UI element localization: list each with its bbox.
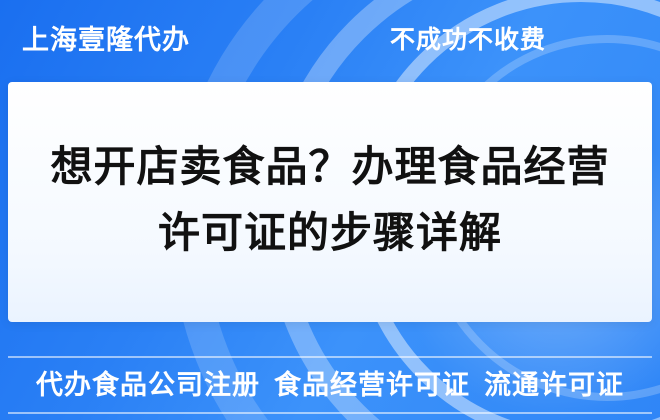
promo-banner: 上海壹隆代办 不成功不收费 想开店卖食品？办理食品经营 许可证的步骤详解 代办食… xyxy=(0,0,660,420)
banner-header: 上海壹隆代办 不成功不收费 xyxy=(0,0,660,78)
page-title: 想开店卖食品？办理食品经营 许可证的步骤详解 xyxy=(8,134,652,267)
slogan-text: 不成功不收费 xyxy=(390,20,546,56)
keyword-strip-divider-bottom xyxy=(8,412,652,414)
brand-name: 上海壹隆代办 xyxy=(22,18,190,57)
page-title-line-2: 许可证的步骤详解 xyxy=(8,200,652,266)
headline-card: 想开店卖食品？办理食品经营 许可证的步骤详解 xyxy=(8,82,652,322)
keyword-item: 代办食品公司注册 xyxy=(36,363,260,402)
keyword-item: 流通许可证 xyxy=(484,363,624,402)
keyword-strip: 代办食品公司注册 食品经营许可证 流通许可证 xyxy=(8,358,652,406)
keyword-item: 食品经营许可证 xyxy=(274,363,470,402)
page-title-line-1: 想开店卖食品？办理食品经营 xyxy=(8,134,652,200)
